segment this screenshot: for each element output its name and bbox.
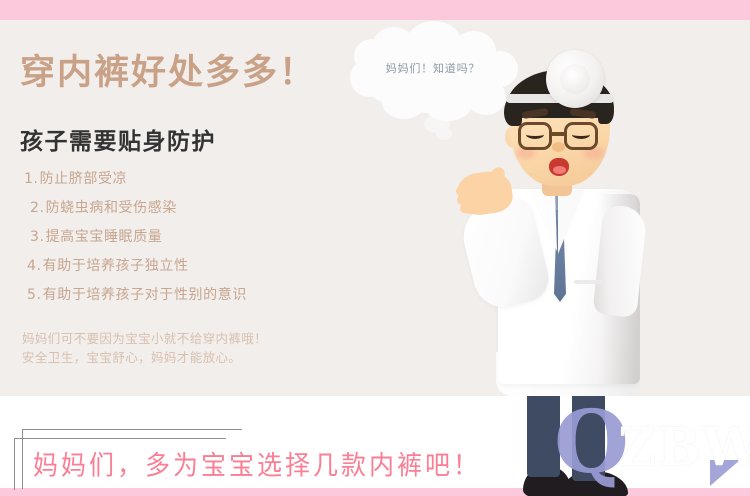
list-item: 4.有助于培养孩子独立性 — [22, 259, 352, 274]
closing-paragraph: 妈妈们可不要因为宝宝小就不给穿内裤哦！ 安全卫生，宝宝舒心，妈妈才能放心。 — [22, 329, 362, 367]
doctor-eye-right — [572, 130, 590, 139]
thought-bubble-tail-small — [436, 128, 452, 140]
cta-text: 妈妈们，多为宝宝选择几款内裤吧！ — [33, 445, 481, 483]
list-item-label: 有助于培养孩子独立性 — [43, 258, 189, 274]
list-item-label: 有助于培养孩子对于性别的意识 — [43, 287, 247, 303]
doctor-tongue — [553, 166, 566, 174]
watermark: Q ZBW — [550, 398, 750, 488]
list-item: 2.防蛲虫病和受伤感染 — [22, 201, 352, 216]
list-item-label: 提高宝宝睡眠质量 — [46, 229, 163, 245]
list-item-number: 1. — [24, 171, 39, 187]
doctor-glasses-bridge — [552, 132, 564, 136]
list-item-number: 5. — [27, 287, 42, 303]
list-item-label: 防蛲虫病和受伤感染 — [46, 200, 177, 216]
list-item-number: 3. — [30, 229, 45, 245]
thought-bubble-lobe — [424, 87, 472, 121]
watermark-label: ZBW — [618, 422, 750, 474]
list-item-number: 2. — [30, 200, 45, 216]
page-title: 穿内裤好处多多！ — [20, 44, 316, 95]
doctor-headlamp-lens — [560, 64, 590, 94]
top-pink-stripe — [0, 0, 750, 20]
closing-line-2: 安全卫生，宝宝舒心，妈妈才能放心。 — [22, 348, 362, 367]
doctor-lapel-right — [558, 190, 584, 254]
benefit-list: 1.防止脐部受凉 2.防蛲虫病和受伤感染 3.提高宝宝睡眠质量 4.有助于培养孩… — [22, 172, 352, 317]
list-item-label: 防止脐部受凉 — [40, 171, 128, 187]
doctor-pocket-right — [574, 280, 604, 284]
closing-line-1: 妈妈们可不要因为宝宝小就不给穿内裤哦！ — [22, 329, 362, 348]
promo-banner: 穿内裤好处多多！ 孩子需要贴身防护 1.防止脐部受凉 2.防蛲虫病和受伤感染 3… — [0, 0, 750, 496]
doctor-eye-left — [526, 130, 544, 139]
list-item: 3.提高宝宝睡眠质量 — [22, 230, 352, 245]
list-item: 1.防止脐部受凉 — [22, 172, 352, 187]
doctor-nose — [552, 142, 565, 152]
list-item-number: 4. — [27, 258, 42, 274]
list-item: 5.有助于培养孩子对于性别的意识 — [22, 288, 352, 303]
page-subtitle: 孩子需要贴身防护 — [20, 122, 216, 156]
thought-bubble-lobe — [382, 85, 426, 119]
